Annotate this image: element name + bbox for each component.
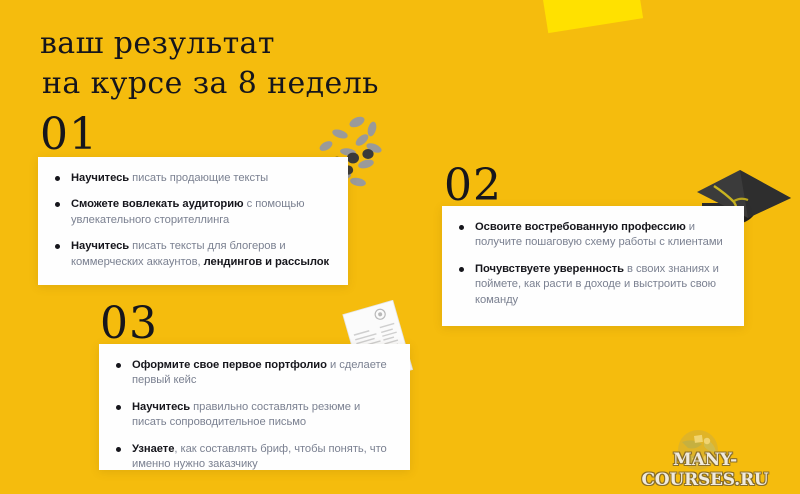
step-number-02: 02 — [444, 164, 502, 208]
slide-canvas: ваш результат на курсе за 8 недель 01 — [0, 0, 800, 494]
list-item: Научитесь писать продающие тексты — [54, 171, 332, 186]
step-card-01: Научитесь писать продающие тексты Сможет… — [38, 157, 348, 285]
list-item: Сможете вовлекать аудиторию с помощью ув… — [54, 197, 332, 228]
step-number-03: 03 — [100, 302, 158, 346]
benefit-highlight: Узнаете — [132, 443, 174, 455]
list-item: Научитесь писать тексты для блогеров и к… — [54, 239, 332, 270]
page-title: ваш результат на курсе за 8 недель — [40, 24, 470, 104]
step-card-02: Освоите востребованную профессию и получ… — [442, 206, 744, 326]
list-item: Научитесь правильно составлять резюме и … — [115, 400, 394, 431]
page-title-line-1: ваш результат — [40, 24, 470, 64]
benefit-highlight: Научитесь — [132, 401, 190, 413]
watermark: MANY-COURSES.RU — [620, 428, 790, 484]
list-item: Почувствуете уверенность в своих знаниях… — [458, 262, 728, 308]
benefit-highlight: Освоите востребованную профессию — [475, 221, 686, 233]
step-02-benefit-list: Освоите востребованную профессию и получ… — [458, 220, 728, 308]
benefit-highlight: Оформите свое первое портфолио — [132, 359, 327, 371]
benefit-highlight: Сможете вовлекать аудиторию — [71, 198, 244, 210]
page-title-line-2: на курсе за 8 недель — [40, 64, 470, 104]
benefit-highlight-2: лендингов и рассылок — [204, 256, 329, 268]
benefit-highlight: Научитесь — [71, 240, 129, 252]
step-03-benefit-list: Оформите свое первое портфолио и сделает… — [115, 358, 394, 473]
step-card-03: Оформите свое первое портфолио и сделает… — [99, 344, 410, 470]
list-item: Узнаете, как составлять бриф, чтобы поня… — [115, 442, 394, 473]
step-number-01: 01 — [40, 113, 98, 157]
list-item: Оформите свое первое портфолио и сделает… — [115, 358, 394, 389]
decorative-diamond-shape — [539, 0, 643, 33]
benefit-text: писать продающие тексты — [129, 172, 268, 184]
watermark-text: MANY-COURSES.RU — [620, 450, 790, 490]
list-item: Освоите востребованную профессию и получ… — [458, 220, 728, 251]
benefit-highlight: Почувствуете уверенность — [475, 263, 624, 275]
step-01-benefit-list: Научитесь писать продающие тексты Сможет… — [54, 171, 332, 270]
benefit-highlight: Научитесь — [71, 172, 129, 184]
